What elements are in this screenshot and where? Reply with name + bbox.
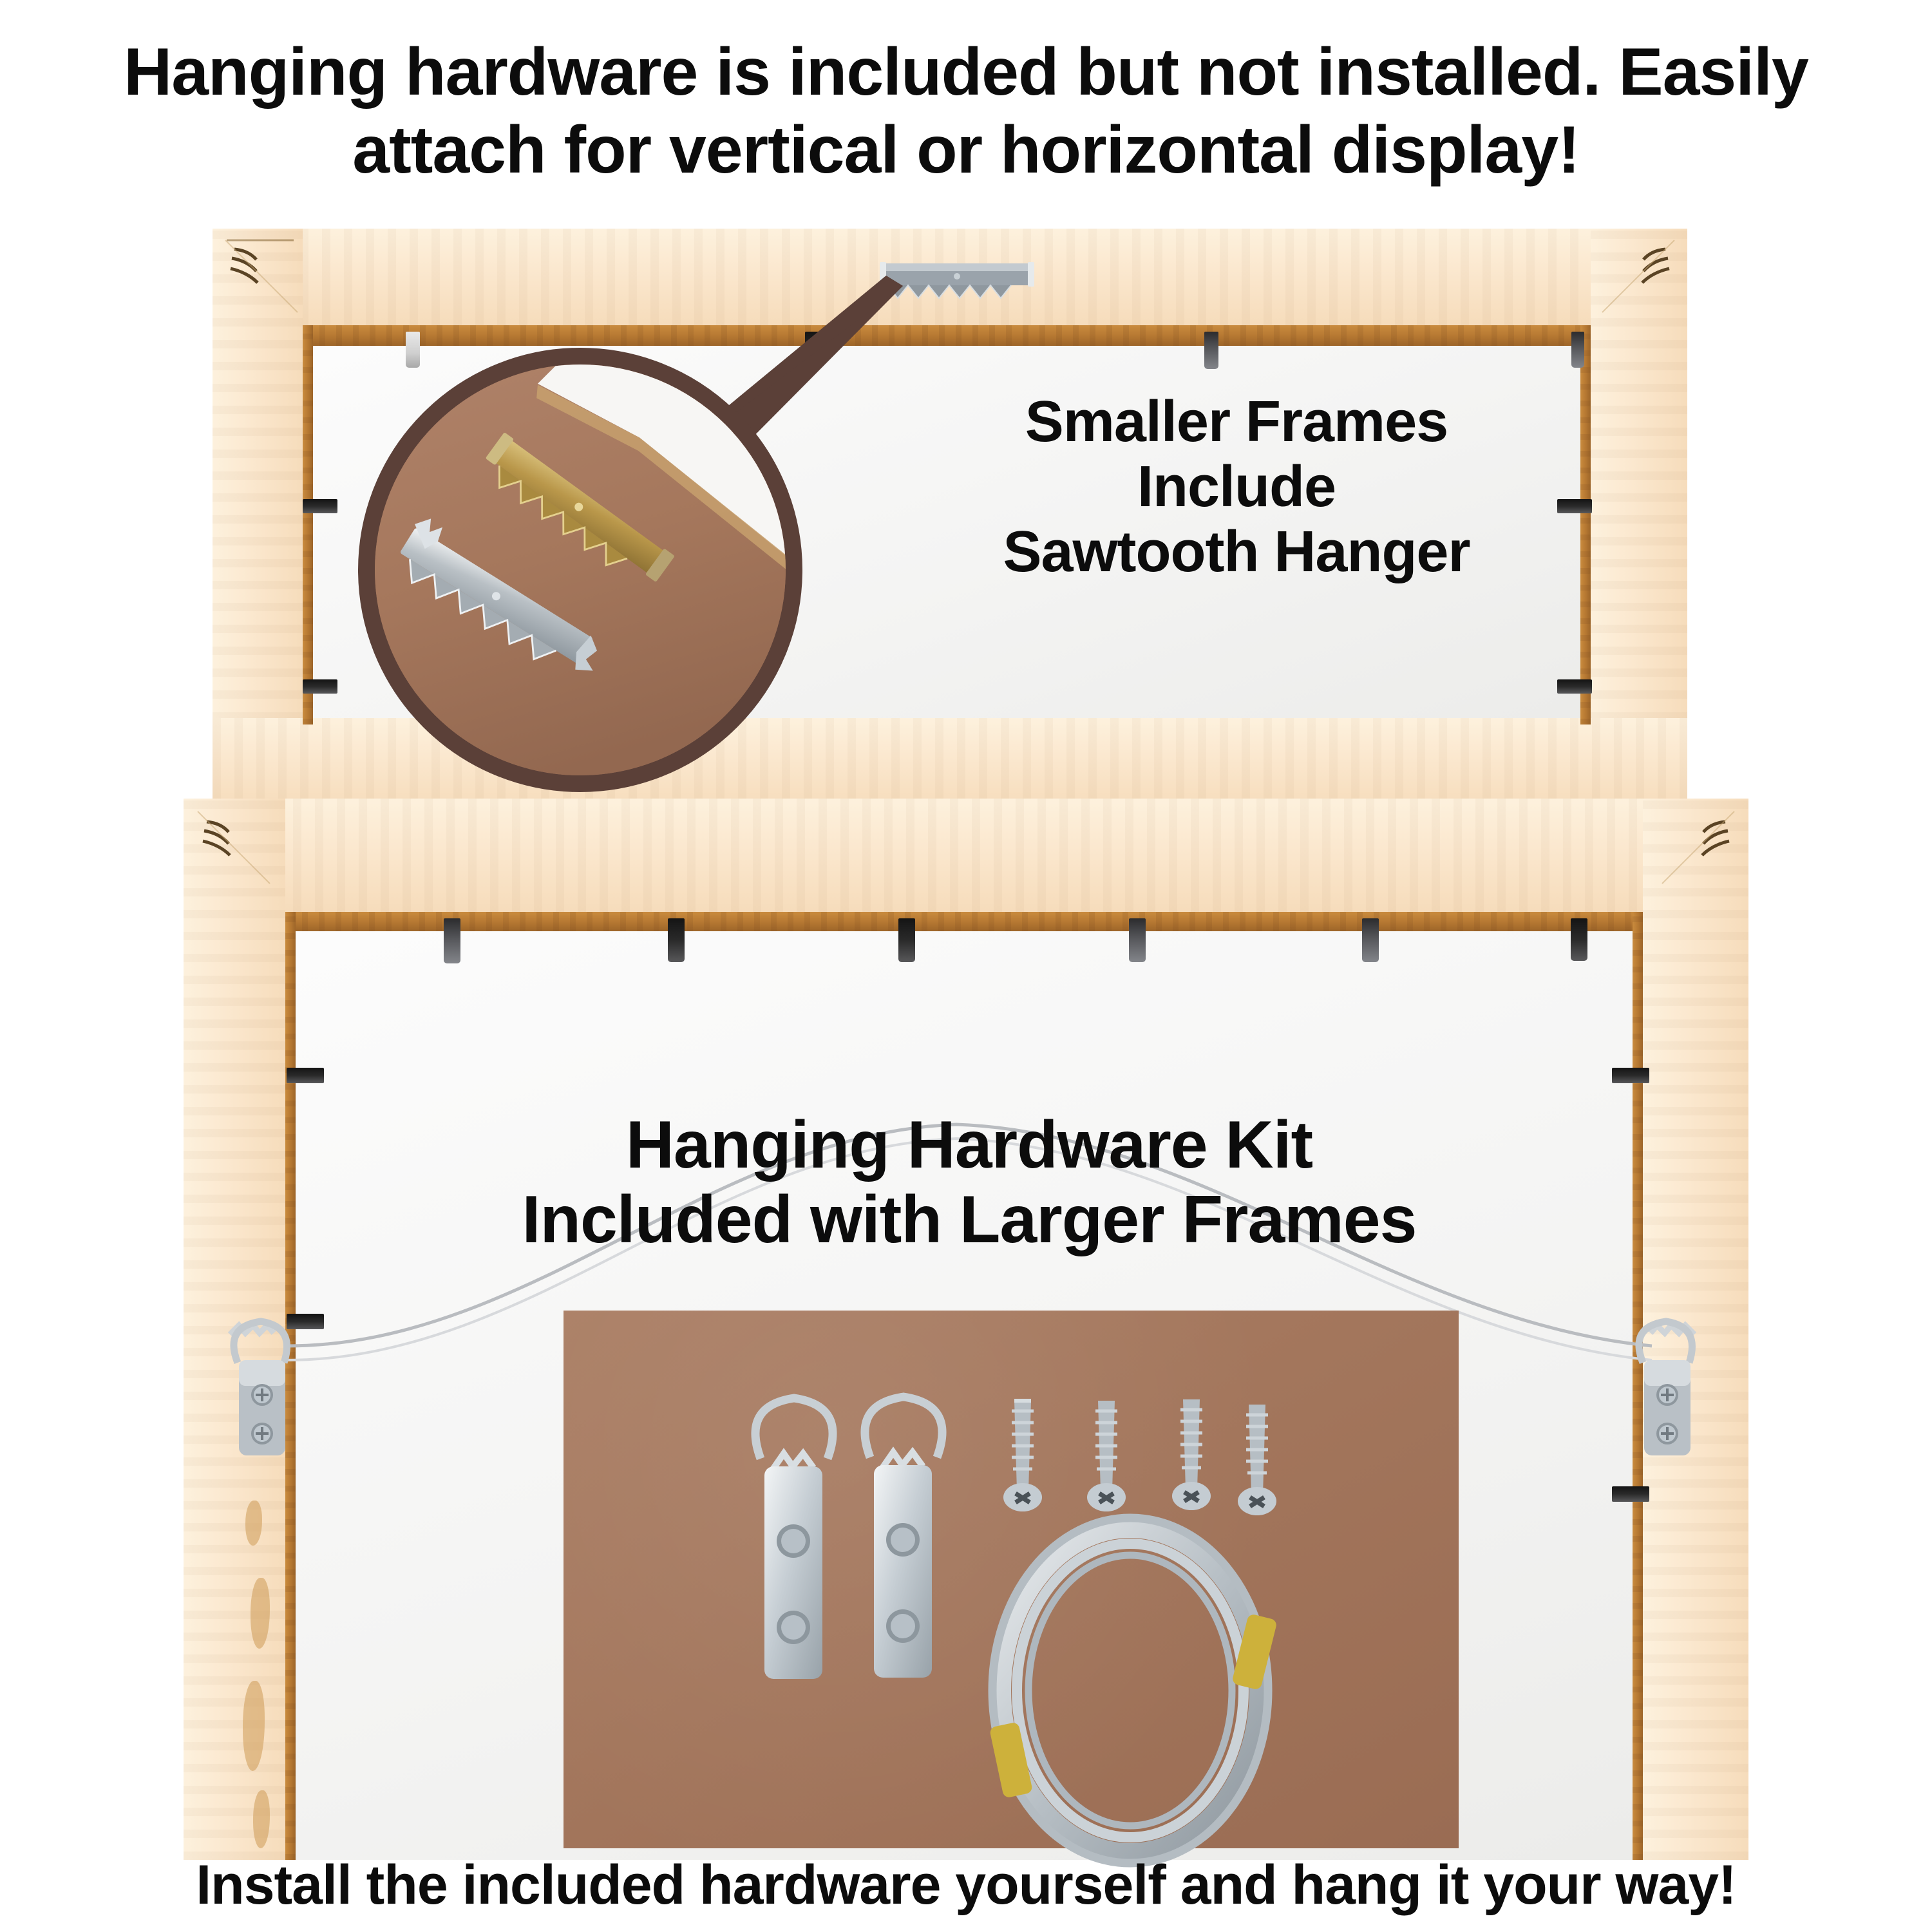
small-frame-heading-line-2: Include [895,455,1578,520]
large-frame-heading-line-1: Hanging Hardware Kit [377,1108,1562,1182]
small-frame-heading: Smaller Frames Include Sawtooth Hanger [895,390,1578,584]
large-frame-back: Hanging Hardware Kit Included with Large… [184,799,1748,1860]
frame-inner-lip-right [1580,325,1591,724]
large-frame-heading-line-2: Included with Larger Frames [377,1182,1562,1257]
backing-clip [898,918,915,962]
backing-clip [1571,918,1587,961]
headline-line-1: Hanging hardware is included but not ins… [97,33,1835,111]
backing-clip [805,332,819,369]
backing-clip [406,332,420,368]
footer-caption: Install the included hardware yourself a… [0,1855,1932,1916]
sawtooth-hanger-icon [880,260,1034,302]
backing-clip [444,918,460,963]
backing-clip [668,918,685,962]
frame-inner-lip-top [303,325,1591,346]
backing-clip [1129,918,1146,962]
sawtooth-closeup-photo [358,348,802,792]
headline-block: Hanging hardware is included but not ins… [0,33,1932,189]
sawtooth-magnifier-callout [358,348,802,792]
d-ring-hanger-left [202,1301,363,1513]
frame-inner-lip-left [303,325,313,724]
picture-wire-coil [989,1518,1278,1863]
frame-inner-lip-top [285,912,1643,931]
d-ring-hanger-right [1587,1301,1748,1513]
infographic-canvas: Hanging hardware is included but not ins… [0,0,1932,1932]
hardware-kit-photo [563,1311,1459,1848]
backing-clip [1362,918,1379,962]
small-frame-heading-line-1: Smaller Frames [895,390,1578,455]
backing-clip [1204,332,1218,369]
backing-clip [1557,679,1592,694]
backing-clip [303,679,337,694]
backing-clip [303,499,337,513]
screw-group [1003,1399,1276,1515]
small-frame-heading-line-3: Sawtooth Hanger [895,520,1578,585]
frame-top-rail [184,799,1748,912]
backing-clip [1571,332,1584,368]
large-frame-heading: Hanging Hardware Kit Included with Large… [377,1108,1562,1258]
headline-line-2: attach for vertical or horizontal displa… [97,111,1835,189]
